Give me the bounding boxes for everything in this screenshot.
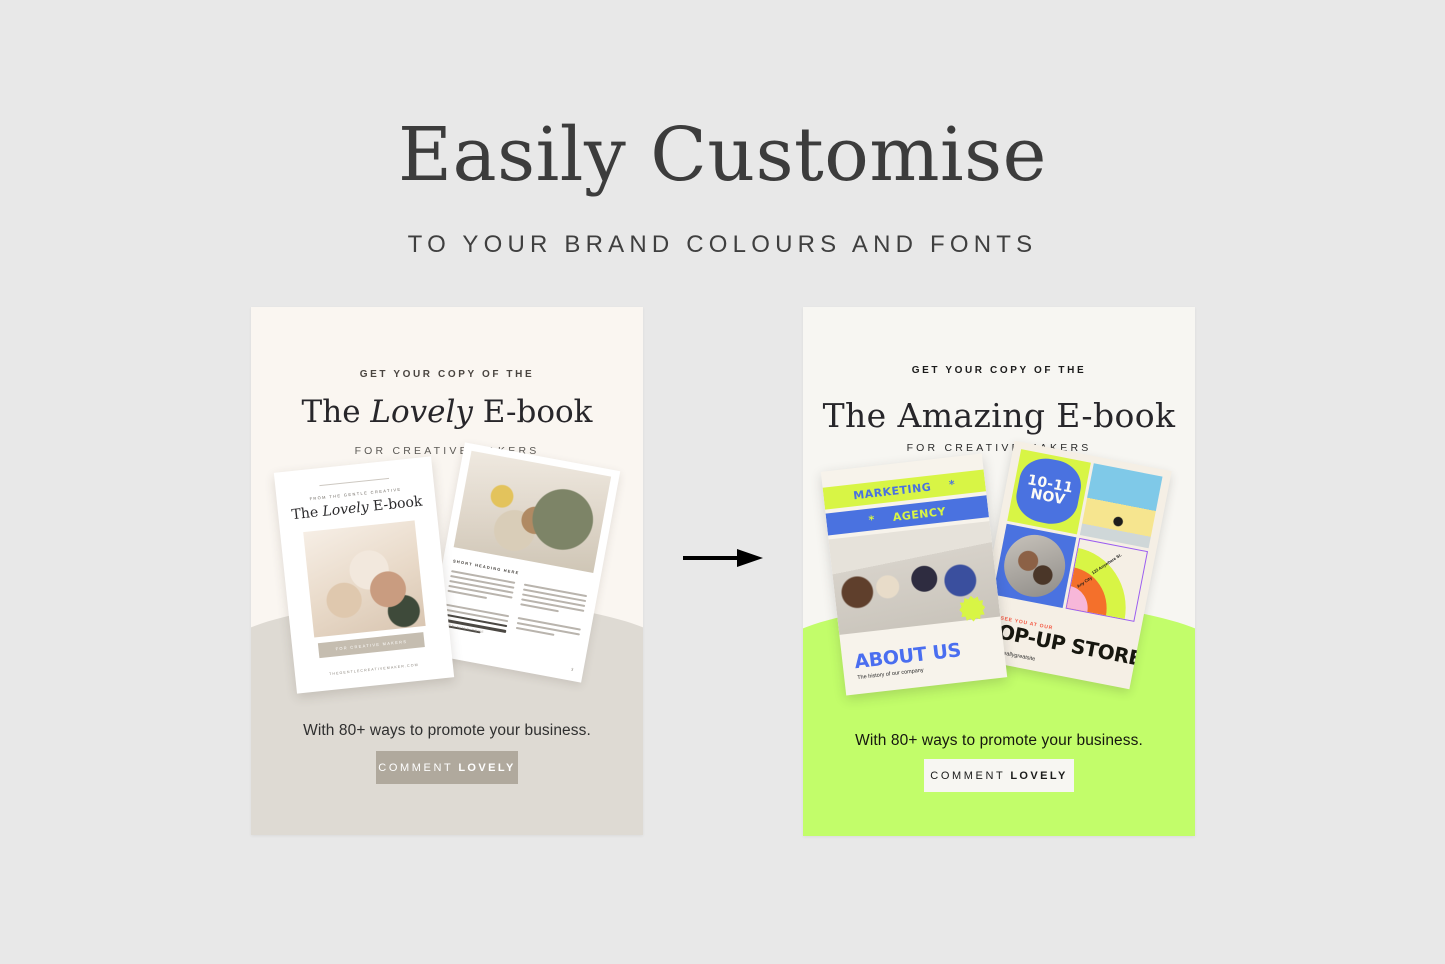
- right-back-date-blob: 10-11 NOV: [1012, 454, 1085, 528]
- left-title-accent: Lovely: [370, 394, 473, 430]
- left-front-rule: [319, 478, 389, 486]
- right-front-band2-label: AGENCY: [892, 505, 946, 524]
- right-back-popup-title: POP-UP STORE: [982, 617, 1144, 671]
- left-back-photo: [454, 451, 611, 573]
- right-card-eyebrow: GET YOUR COPY OF THE: [803, 365, 1195, 376]
- left-title-suffix: E-book: [473, 394, 593, 430]
- right-back-address-arcs: 123 Anywhere St. Any City: [1065, 537, 1148, 622]
- right-back-grid: 10-11 NOV 123 Anywhere St. Any City: [993, 449, 1163, 622]
- right-back-date-cell: 10-11 NOV: [1007, 449, 1090, 534]
- left-back-page-number: 3: [571, 667, 574, 672]
- slide-canvas: Easily Customise TO YOUR BRAND COLOURS A…: [0, 0, 1445, 964]
- left-title-prefix: The: [302, 394, 371, 430]
- right-back-people-photo: [999, 529, 1070, 602]
- right-back-truck-photo: [1079, 463, 1162, 548]
- right-cta-strong: LOVELY: [1010, 770, 1067, 782]
- left-front-photo: [303, 520, 425, 637]
- left-front-title-prefix: The: [291, 504, 324, 523]
- left-back-columns: [440, 570, 587, 654]
- right-back-date-line2: NOV: [1029, 488, 1066, 508]
- right-back-people-cell: [993, 523, 1076, 608]
- right-title-prefix: The: [823, 396, 898, 435]
- page-title: Easily Customise: [0, 118, 1445, 192]
- right-front-about-title: ABOUT US: [853, 639, 962, 673]
- left-front-url: THEGENTLECREATIVEMAKER.COM: [295, 659, 453, 679]
- asterisk-icon: *: [868, 513, 876, 527]
- left-comment-button[interactable]: COMMENTLOVELY: [376, 751, 518, 784]
- right-mockup-front-cover: MARKETING * * AGENCY ABOUT US The histor…: [821, 454, 1007, 696]
- left-front-badge: FOR CREATIVE MAKERS: [318, 632, 425, 658]
- left-mockup-front-cover: FROM THE GENTLE CREATIVE The Lovely E-bo…: [274, 456, 454, 693]
- right-card-tagline: With 80+ ways to promote your business.: [803, 732, 1195, 750]
- right-front-band1-label: MARKETING: [853, 480, 932, 502]
- after-card[interactable]: GET YOUR COPY OF THE The Amazing E-book …: [803, 307, 1195, 836]
- left-back-column-2: [513, 583, 587, 654]
- page-subtitle: TO YOUR BRAND COLOURS AND FONTS: [0, 231, 1445, 259]
- before-card[interactable]: GET YOUR COPY OF THE The Lovely E-book F…: [251, 307, 643, 835]
- right-card-subtitle: FOR CREATIVE MAKERS: [803, 442, 1195, 454]
- left-card-eyebrow: GET YOUR COPY OF THE: [251, 369, 643, 380]
- right-cta-label: COMMENT: [930, 770, 1005, 782]
- right-arrow-icon: [683, 545, 763, 571]
- left-cta-strong: LOVELY: [458, 762, 515, 774]
- right-title-suffix: E-book: [1045, 396, 1175, 435]
- left-card-tagline: With 80+ ways to promote your business.: [251, 722, 643, 740]
- right-title-accent: Amazing: [897, 396, 1045, 435]
- asterisk-icon: *: [948, 477, 956, 491]
- left-front-title-accent: Lovely: [322, 499, 370, 520]
- left-front-title-suffix: E-book: [368, 494, 423, 516]
- left-card-title: The Lovely E-book: [251, 394, 643, 430]
- left-card-subtitle: FOR CREATIVE MAKERS: [251, 445, 643, 457]
- right-comment-button[interactable]: COMMENTLOVELY: [924, 759, 1074, 792]
- right-card-title: The Amazing E-book: [803, 396, 1195, 435]
- left-cta-label: COMMENT: [378, 762, 453, 774]
